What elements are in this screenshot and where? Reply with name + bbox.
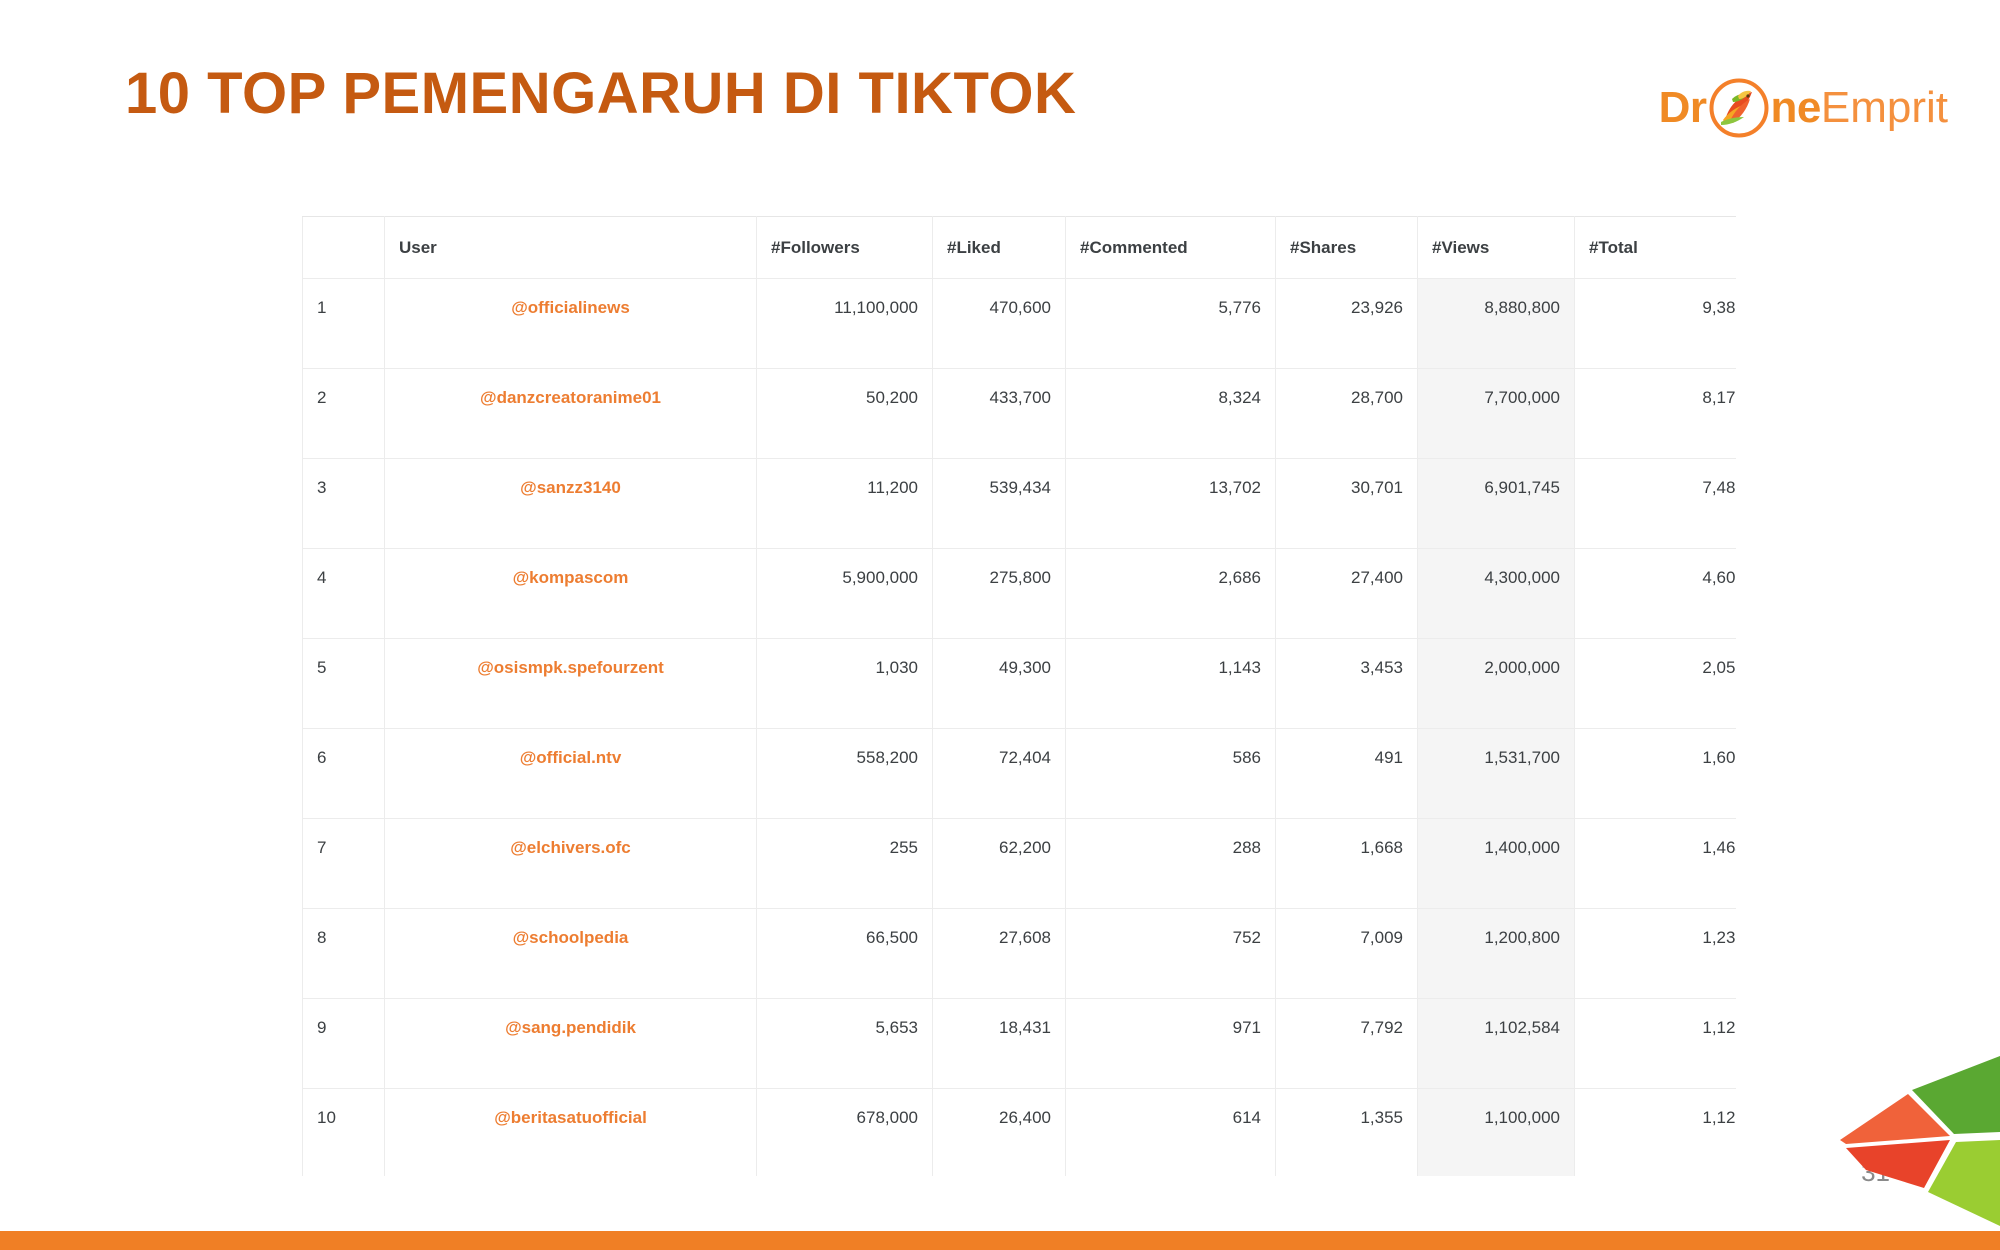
cell-shares: 23,926	[1276, 279, 1418, 369]
cell-shares: 27,400	[1276, 549, 1418, 639]
cell-commented: 5,776	[1066, 279, 1276, 369]
cell-total: 9,381,105	[1575, 279, 1737, 369]
table-header-row: User #Followers #Liked #Commented #Share…	[303, 217, 1737, 279]
cell-views: 4,300,000	[1418, 549, 1575, 639]
cell-total: 4,605,887	[1575, 549, 1737, 639]
cell-user[interactable]: @osismpk.spefourzent	[385, 639, 757, 729]
table-row: 7@elchivers.ofc25562,2002881,6681,400,00…	[303, 819, 1737, 909]
cell-user[interactable]: @elchivers.ofc	[385, 819, 757, 909]
cell-views: 6,901,745	[1418, 459, 1575, 549]
cell-liked: 27,608	[933, 909, 1066, 999]
cell-commented: 614	[1066, 1089, 1276, 1177]
cell-commented: 1,143	[1066, 639, 1276, 729]
cell-views: 1,200,800	[1418, 909, 1575, 999]
cell-followers: 66,500	[757, 909, 933, 999]
column-header-liked: #Liked	[933, 217, 1066, 279]
cell-user[interactable]: @schoolpedia	[385, 909, 757, 999]
cell-commented: 586	[1066, 729, 1276, 819]
cell-liked: 26,400	[933, 1089, 1066, 1177]
cell-liked: 49,300	[933, 639, 1066, 729]
cell-liked: 433,700	[933, 369, 1066, 459]
cell-shares: 1,668	[1276, 819, 1418, 909]
table-row: 4@kompascom5,900,000275,8002,68627,4004,…	[303, 549, 1737, 639]
table-row: 1@officialinews11,100,000470,6005,77623,…	[303, 279, 1737, 369]
cell-followers: 5,900,000	[757, 549, 933, 639]
cell-views: 1,102,584	[1418, 999, 1575, 1089]
cell-shares: 7,009	[1276, 909, 1418, 999]
logo-text-dr: Dr	[1659, 86, 1707, 130]
cell-user[interactable]: @sang.pendidik	[385, 999, 757, 1089]
cell-shares: 28,700	[1276, 369, 1418, 459]
cell-user[interactable]: @officialinews	[385, 279, 757, 369]
cell-rank: 7	[303, 819, 385, 909]
cell-shares: 491	[1276, 729, 1418, 819]
cell-user[interactable]: @danzcreatoranime01	[385, 369, 757, 459]
table-row: 5@osismpk.spefourzent1,03049,3001,1433,4…	[303, 639, 1737, 729]
cell-views: 7,700,000	[1418, 369, 1575, 459]
table-row: 6@official.ntv558,20072,4045864911,531,7…	[303, 729, 1737, 819]
table-row: 3@sanzz314011,200539,43413,70230,7016,90…	[303, 459, 1737, 549]
corner-polygon-decoration	[1800, 1048, 2000, 1228]
logo-text-ne: ne	[1771, 86, 1821, 130]
cell-views: 8,880,800	[1418, 279, 1575, 369]
cell-rank: 3	[303, 459, 385, 549]
table-row: 2@danzcreatoranime0150,200433,7008,32428…	[303, 369, 1737, 459]
cell-rank: 9	[303, 999, 385, 1089]
column-header-total: #Total	[1575, 217, 1737, 279]
cell-liked: 539,434	[933, 459, 1066, 549]
table-viewport: User #Followers #Liked #Commented #Share…	[302, 216, 1736, 1176]
cell-followers: 255	[757, 819, 933, 909]
cell-liked: 62,200	[933, 819, 1066, 909]
column-header-commented: #Commented	[1066, 217, 1276, 279]
cell-total: 2,053,897	[1575, 639, 1737, 729]
cell-user[interactable]: @beritasatuofficial	[385, 1089, 757, 1177]
column-header-rank	[303, 217, 385, 279]
cell-rank: 10	[303, 1089, 385, 1177]
cell-rank: 2	[303, 369, 385, 459]
page-number: 31	[1861, 1157, 1890, 1188]
cell-user[interactable]: @kompascom	[385, 549, 757, 639]
cell-commented: 288	[1066, 819, 1276, 909]
table-row: 9@sang.pendidik5,65318,4319717,7921,102,…	[303, 999, 1737, 1089]
cell-rank: 5	[303, 639, 385, 729]
cell-liked: 470,600	[933, 279, 1066, 369]
cell-followers: 5,653	[757, 999, 933, 1089]
cell-views: 1,531,700	[1418, 729, 1575, 819]
cell-commented: 2,686	[1066, 549, 1276, 639]
cell-commented: 752	[1066, 909, 1276, 999]
top-influencers-table: User #Followers #Liked #Commented #Share…	[302, 216, 1736, 1176]
cell-views: 1,100,000	[1418, 1089, 1575, 1177]
cell-total: 1,236,180	[1575, 909, 1737, 999]
cell-total: 1,464,157	[1575, 819, 1737, 909]
cell-followers: 678,000	[757, 1089, 933, 1177]
cell-shares: 7,792	[1276, 999, 1418, 1089]
cell-shares: 3,453	[1276, 639, 1418, 729]
column-header-views: #Views	[1418, 217, 1575, 279]
cell-followers: 1,030	[757, 639, 933, 729]
cell-rank: 1	[303, 279, 385, 369]
cell-shares: 30,701	[1276, 459, 1418, 549]
cell-commented: 8,324	[1066, 369, 1276, 459]
cell-liked: 275,800	[933, 549, 1066, 639]
cell-total: 1,129,792	[1575, 999, 1737, 1089]
column-header-followers: #Followers	[757, 217, 933, 279]
column-header-user: User	[385, 217, 757, 279]
cell-rank: 6	[303, 729, 385, 819]
table-row: 8@schoolpedia66,50027,6087527,0091,200,8…	[303, 909, 1737, 999]
cell-user[interactable]: @sanzz3140	[385, 459, 757, 549]
logo-wordmark: Dr ne Emprit	[1659, 77, 1948, 139]
drone-emprit-logo: Dr ne Emprit	[1659, 70, 1948, 146]
cell-followers: 11,100,000	[757, 279, 933, 369]
cell-total: 8,170,725	[1575, 369, 1737, 459]
cell-views: 2,000,000	[1418, 639, 1575, 729]
cell-user[interactable]: @official.ntv	[385, 729, 757, 819]
page-title: 10 TOP PEMENGARUH DI TIKTOK	[125, 62, 1076, 126]
bird-in-circle-icon	[1708, 77, 1770, 139]
cell-total: 1,605,183	[1575, 729, 1737, 819]
cell-liked: 18,431	[933, 999, 1066, 1089]
cell-total: 7,485,584	[1575, 459, 1737, 549]
cell-liked: 72,404	[933, 729, 1066, 819]
cell-total: 1,128,370	[1575, 1089, 1737, 1177]
cell-views: 1,400,000	[1418, 819, 1575, 909]
cell-shares: 1,355	[1276, 1089, 1418, 1177]
cell-followers: 50,200	[757, 369, 933, 459]
cell-followers: 558,200	[757, 729, 933, 819]
logo-text-emprit: Emprit	[1821, 86, 1948, 130]
column-header-shares: #Shares	[1276, 217, 1418, 279]
cell-rank: 4	[303, 549, 385, 639]
cell-commented: 13,702	[1066, 459, 1276, 549]
cell-followers: 11,200	[757, 459, 933, 549]
cell-rank: 8	[303, 909, 385, 999]
bottom-accent-bar	[0, 1231, 2000, 1250]
table-row: 10@beritasatuofficial678,00026,4006141,3…	[303, 1089, 1737, 1177]
cell-commented: 971	[1066, 999, 1276, 1089]
